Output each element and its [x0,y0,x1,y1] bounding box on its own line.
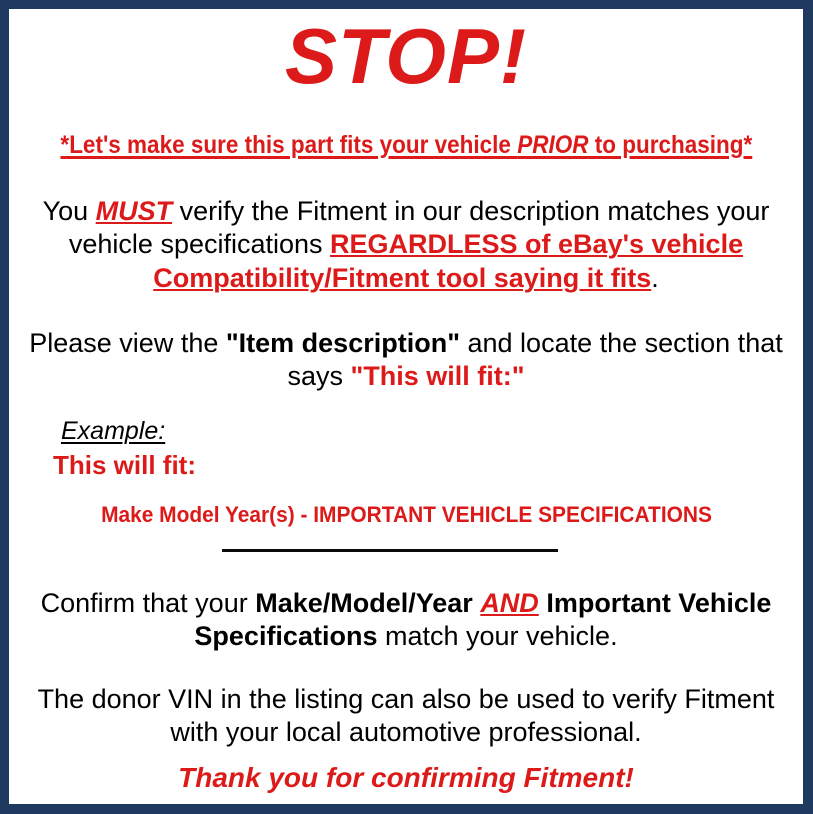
fitment-notice-card: STOP! *Let's make sure this part fits yo… [9,9,803,804]
confirm-bold-make-model-year: Make/Model/Year [255,588,480,618]
verify-part-3: . [651,263,659,293]
fitment-notice-frame: STOP! *Let's make sure this part fits yo… [0,0,813,814]
paragraph-verify-fitment: You MUST verify the Fitment in our descr… [25,195,787,295]
paragraph-confirm-match: Confirm that your Make/Model/Year AND Im… [25,587,787,654]
example-spec-line: Make Model Year(s) - IMPORTANT VEHICLE S… [9,502,803,528]
view-part-1: Please view the [29,328,226,358]
horizontal-rule-divider [222,549,558,552]
confirm-part-1: Confirm that your [41,588,256,618]
subtitle-emphasis-prior: PRIOR [517,131,588,159]
closing-thank-you: Thank you for confirming Fitment! [9,762,803,794]
example-spec-text: Make Model Year(s) - IMPORTANT VEHICLE S… [101,502,712,528]
example-label: Example: [61,417,165,446]
subtitle-suffix: to purchasing* [588,131,752,159]
stop-title: STOP! [9,17,803,95]
subtitle-prefix: *Let's make sure this part fits your veh… [60,131,517,159]
subtitle-inner: *Let's make sure this part fits your veh… [60,131,752,160]
example-this-will-fit-heading: This will fit: [53,450,196,481]
verify-part-1: You [43,196,96,226]
confirm-emphasis-and: AND [480,588,539,618]
view-red-this-will-fit: "This will fit:" [350,361,524,391]
paragraph-donor-vin: The donor VIN in the listing can also be… [25,683,787,750]
verify-emphasis-must: MUST [96,196,173,226]
subtitle-line: *Let's make sure this part fits your veh… [9,131,803,160]
paragraph-view-description: Please view the "Item description" and l… [25,327,787,394]
confirm-part-2: match your vehicle. [377,621,617,651]
view-bold-item-description: "Item description" [226,328,460,358]
